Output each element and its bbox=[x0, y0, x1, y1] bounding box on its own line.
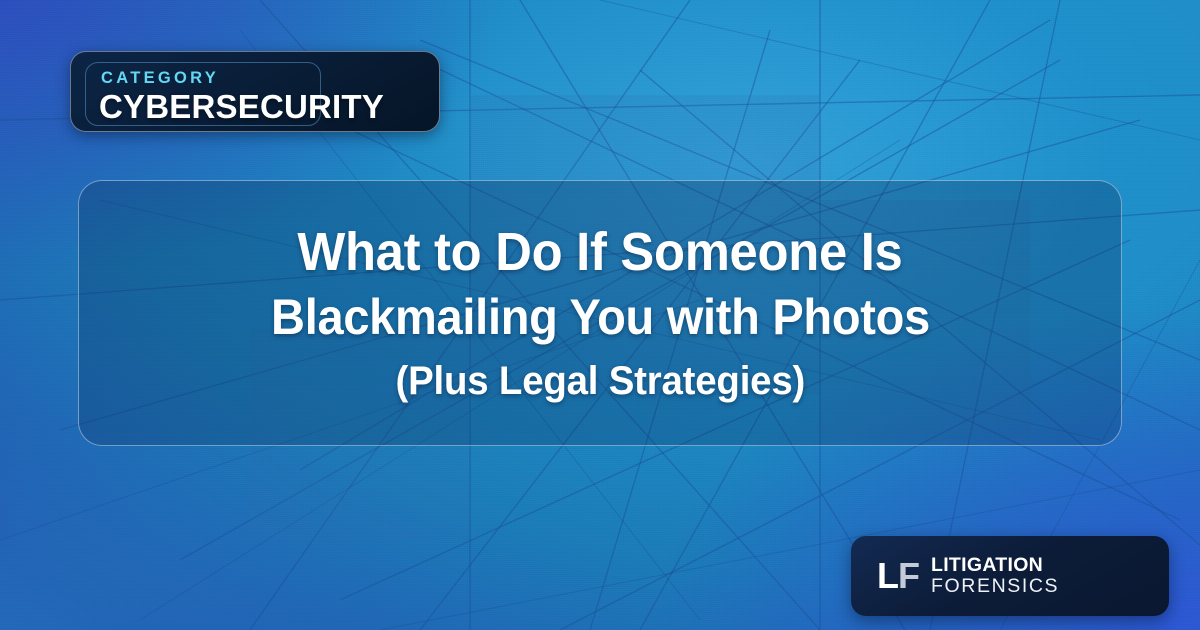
badge-kicker-label: CATEGORY bbox=[101, 70, 219, 87]
logo-monogram-l: L bbox=[877, 558, 898, 594]
headline-line-1: What to Do If Someone Is bbox=[297, 222, 902, 282]
logo-word-litigation: LITIGATION bbox=[931, 555, 1059, 576]
logo-monogram: LF bbox=[877, 558, 919, 594]
brand-logo: LF LITIGATION FORENSICS bbox=[851, 536, 1169, 616]
badge-category-name: CYBERSECURITY bbox=[99, 90, 384, 123]
logo-wordmark: LITIGATION FORENSICS bbox=[931, 555, 1059, 596]
headline-card: What to Do If Someone Is Blackmailing Yo… bbox=[78, 180, 1122, 446]
logo-monogram-f: F bbox=[898, 558, 919, 594]
social-card-canvas: CATEGORY CYBERSECURITY What to Do If Som… bbox=[0, 0, 1200, 630]
headline-line-2: Blackmailing You with Photos bbox=[271, 289, 930, 345]
headline-line-3: (Plus Legal Strategies) bbox=[395, 359, 805, 404]
category-badge: CATEGORY CYBERSECURITY bbox=[70, 51, 440, 132]
logo-word-forensics: FORENSICS bbox=[931, 576, 1059, 597]
